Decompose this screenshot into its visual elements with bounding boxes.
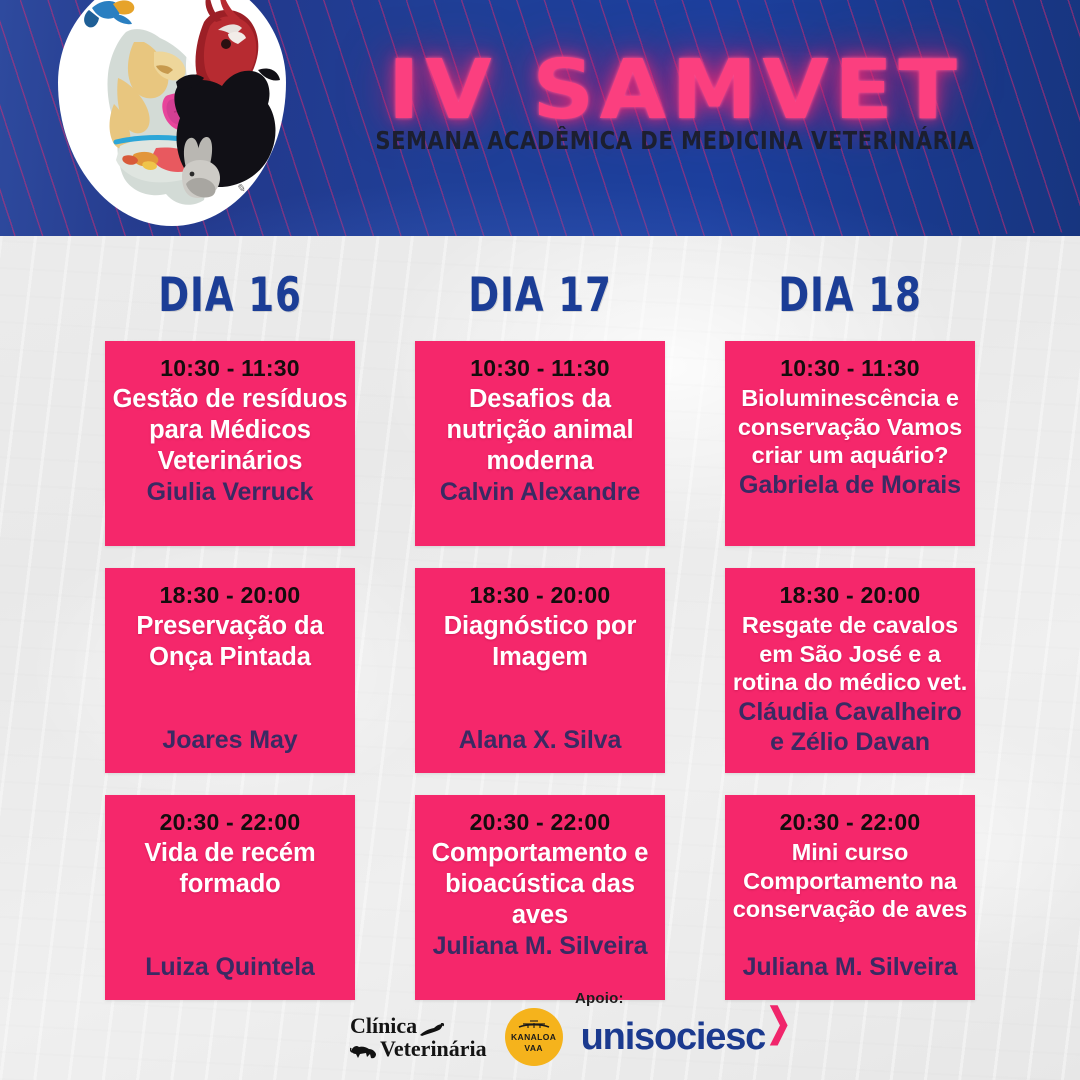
- session-speaker: Calvin Alexandre: [421, 477, 659, 507]
- sponsors-footer: Apoio: Clínica Veterinária: [0, 990, 1080, 1080]
- session-speaker: Joares May: [111, 725, 349, 755]
- session-time: 10:30 - 11:30: [111, 353, 349, 383]
- session-speaker: Luiza Quintela: [111, 952, 349, 982]
- apoio-label: Apoio:: [575, 990, 624, 1007]
- sponsor-kanaloa-vaa[interactable]: KANALOA VAA: [505, 1008, 563, 1066]
- day-heading-17: DIA 17: [430, 268, 650, 323]
- session-time: 10:30 - 11:30: [421, 353, 659, 383]
- session-card[interactable]: 18:30 - 20:00 Diagnóstico por Imagem Ala…: [415, 568, 665, 773]
- session-time: 20:30 - 22:00: [731, 807, 969, 837]
- session-title: Vida de recém formado: [111, 838, 349, 899]
- dog-icon: [350, 1044, 378, 1060]
- kanaloa-line2: VAA: [524, 1043, 543, 1054]
- session-time: 18:30 - 20:00: [111, 580, 349, 610]
- session-title: Mini curso Comportamento na conservação …: [731, 838, 969, 923]
- session-time: 20:30 - 22:00: [111, 807, 349, 837]
- event-title-block: IV SAMVET SEMANA ACADÊMICA DE MEDICINA V…: [330, 52, 1020, 155]
- session-card[interactable]: 10:30 - 11:30 Gestão de resíduos para Mé…: [105, 341, 355, 546]
- clinica-line2: Veterinária: [380, 1038, 487, 1060]
- session-card[interactable]: 20:30 - 22:00 Vida de recém formado Luiz…: [105, 795, 355, 1000]
- unisociesc-wordmark: unisociesc: [581, 1018, 765, 1056]
- cat-icon: [419, 1023, 445, 1037]
- svg-text:✎: ✎: [236, 182, 245, 195]
- event-title: IV SAMVET: [313, 52, 1038, 130]
- session-time: 18:30 - 20:00: [421, 580, 659, 610]
- session-speaker: Cláudia Cavalheiro e Zélio Davan: [731, 697, 969, 757]
- poster-root: ✎ IV SAMVET SEMANA ACADÊMICA DE MEDICINA…: [0, 0, 1080, 1080]
- clinica-line1: Clínica: [350, 1015, 417, 1037]
- kanaloa-line1: KANALOA: [511, 1032, 556, 1043]
- sponsor-clinica-veterinaria[interactable]: Clínica Veterinária: [350, 1015, 487, 1060]
- sponsor-unisociesc[interactable]: unisociesc ❯: [581, 1018, 790, 1056]
- session-time: 10:30 - 11:30: [731, 353, 969, 383]
- session-time: 20:30 - 22:00: [421, 807, 659, 837]
- sponsor-logos: Clínica Veterinária: [350, 1008, 790, 1074]
- event-subtitle: SEMANA ACADÊMICA DE MEDICINA VETERINÁRIA: [351, 126, 1000, 155]
- session-title: Diagnóstico por Imagem: [421, 611, 659, 672]
- session-title: Desafios da nutrição animal moderna: [421, 384, 659, 476]
- session-title: Gestão de resíduos para Médicos Veteriná…: [111, 384, 349, 476]
- session-card[interactable]: 18:30 - 20:00 Resgate de cavalos em São …: [725, 568, 975, 773]
- session-title: Comportamento e bioacústica das aves: [421, 838, 659, 930]
- session-time: 18:30 - 20:00: [731, 580, 969, 610]
- session-speaker: Juliana M. Silveira: [731, 952, 969, 982]
- day-column-18: DIA 18 10:30 - 11:30 Bioluminescência e …: [725, 268, 975, 1022]
- schedule-grid: DIA 16 10:30 - 11:30 Gestão de resíduos …: [0, 236, 1080, 1022]
- day-column-16: DIA 16 10:30 - 11:30 Gestão de resíduos …: [105, 268, 355, 1022]
- outrigger-canoe-icon: [517, 1020, 551, 1032]
- session-speaker: Juliana M. Silveira: [421, 931, 659, 961]
- session-title: Resgate de cavalos em São José e a rotin…: [731, 611, 969, 696]
- day-heading-18: DIA 18: [740, 268, 960, 323]
- day-column-17: DIA 17 10:30 - 11:30 Desafios da nutriçã…: [415, 268, 665, 1022]
- session-speaker: Alana X. Silva: [421, 725, 659, 755]
- session-title: Bioluminescência e conservação Vamos cri…: [731, 384, 969, 469]
- session-card[interactable]: 20:30 - 22:00 Mini curso Comportamento n…: [725, 795, 975, 1000]
- session-card[interactable]: 10:30 - 11:30 Bioluminescência e conserv…: [725, 341, 975, 546]
- session-card[interactable]: 18:30 - 20:00 Preservação da Onça Pintad…: [105, 568, 355, 773]
- session-card[interactable]: 10:30 - 11:30 Desafios da nutrição anima…: [415, 341, 665, 546]
- session-speaker: Gabriela de Morais: [731, 470, 969, 500]
- day-heading-16: DIA 16: [120, 268, 340, 323]
- session-speaker: Giulia Verruck: [111, 477, 349, 507]
- session-card[interactable]: 20:30 - 22:00 Comportamento e bioacústic…: [415, 795, 665, 1000]
- chevron-right-icon: ❯: [766, 1005, 790, 1044]
- poster-header: ✎ IV SAMVET SEMANA ACADÊMICA DE MEDICINA…: [0, 0, 1080, 236]
- session-title: Preservação da Onça Pintada: [111, 611, 349, 672]
